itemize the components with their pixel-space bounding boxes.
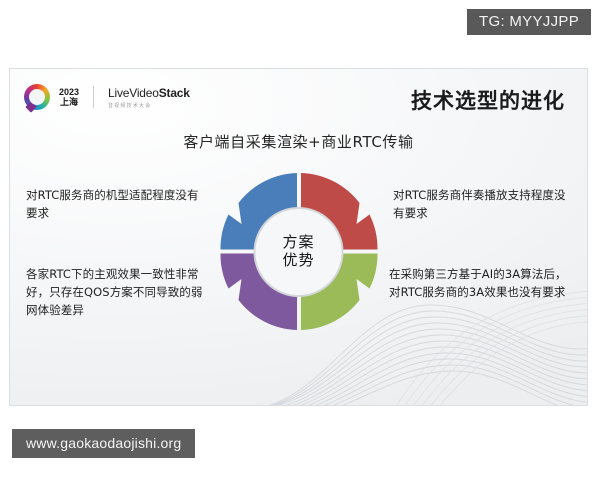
advantage-text-top-left: 对RTC服务商的机型适配程度没有要求 xyxy=(26,187,201,223)
slide-title: 技术选型的进化 xyxy=(411,85,565,115)
advantage-text-bottom-left: 各家RTC下的主观效果一致性非常好，只存在QOS方案不同导致的弱网体验差异 xyxy=(26,266,206,319)
livevideostack-ring-logo-icon xyxy=(24,84,50,110)
telegram-watermark-badge: TG: MYYJJPP xyxy=(467,9,591,35)
slide-subtitle: 客户端自采集渲染+商业RTC传输 xyxy=(10,131,587,152)
presentation-slide: 2023 上海 LiveVideoStack 音视频技术大会 技术选型的进化 客… xyxy=(9,68,588,406)
brand-tagline: 音视频技术大会 xyxy=(108,104,190,109)
solution-advantage-wheel: 方案 优势 xyxy=(216,169,381,334)
advantage-text-bottom-right: 在采购第三方基于AI的3A算法后，对RTC服务商的3A效果也没有要求 xyxy=(389,266,575,302)
slide-header: 2023 上海 LiveVideoStack 音视频技术大会 技术选型的进化 xyxy=(10,69,587,127)
logo-year-city: 2023 上海 xyxy=(59,87,79,107)
brand-name-light: LiveVideo xyxy=(108,86,159,100)
website-watermark-badge: www.gaokaodaojishi.org xyxy=(12,429,195,458)
brand-divider xyxy=(93,86,94,108)
brand-name: LiveVideoStack xyxy=(108,86,190,100)
brand-name-bold: Stack xyxy=(159,86,190,100)
conference-branding: 2023 上海 LiveVideoStack 音视频技术大会 xyxy=(24,84,190,110)
logo-year-text: 2023 xyxy=(59,87,79,97)
livevideostack-wordmark: LiveVideoStack 音视频技术大会 xyxy=(108,85,190,109)
advantage-text-top-right: 对RTC服务商伴奏播放支持程度没有要求 xyxy=(393,187,575,223)
wheel-center-label: 方案 优势 xyxy=(254,207,344,297)
logo-city-text: 上海 xyxy=(60,97,78,107)
wheel-center-line1: 方案 xyxy=(282,234,314,252)
wheel-center-line2: 优势 xyxy=(282,252,314,270)
